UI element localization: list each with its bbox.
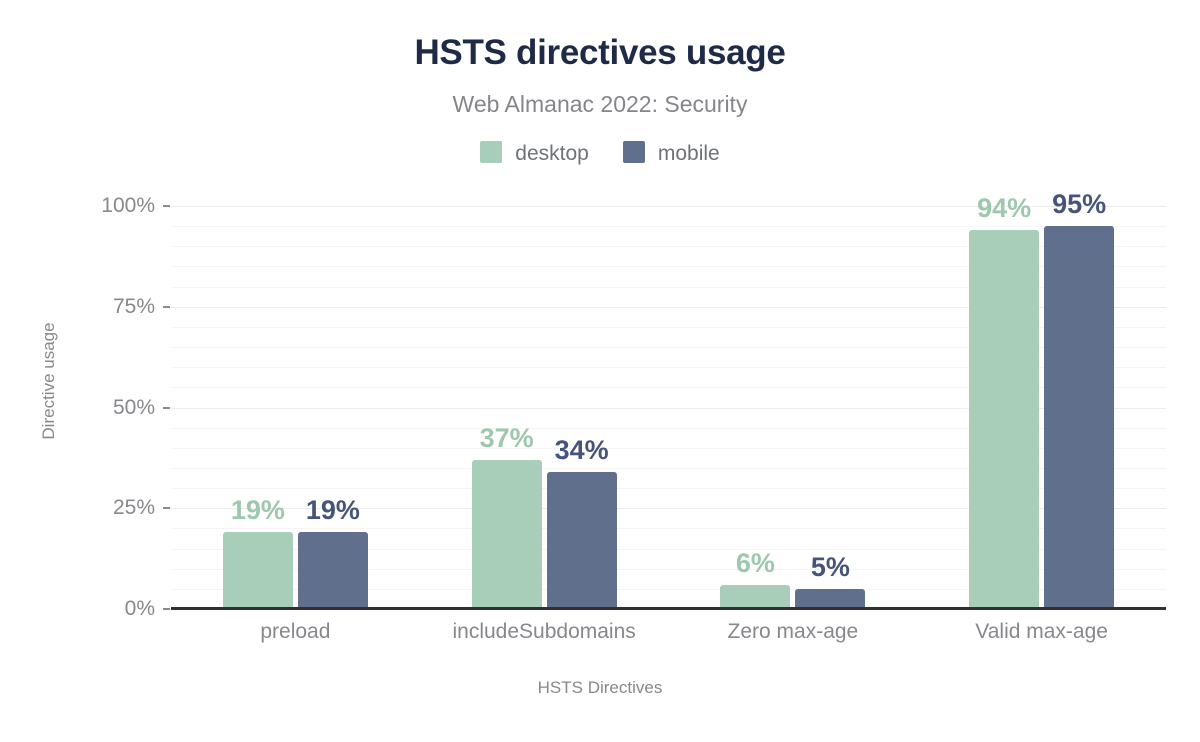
bar-value-label-mobile-preload: 19% <box>306 495 360 526</box>
bar-value-label-desktop-preload: 19% <box>231 495 285 526</box>
chart-subtitle: Web Almanac 2022: Security <box>0 91 1200 118</box>
plot-area: 19%19%37%34%6%5%94%95% <box>171 206 1166 609</box>
y-axis-tick-mark <box>163 608 170 610</box>
bar-value-label-mobile-zero-max-age: 5% <box>811 552 850 583</box>
bar-value-label-mobile-includesubdomains: 34% <box>555 435 609 466</box>
bar-mobile-zero-max-age[interactable] <box>795 589 865 609</box>
x-axis-title: HSTS Directives <box>0 678 1200 698</box>
legend-label-desktop: desktop <box>515 143 589 164</box>
y-axis-tick-label: 25% <box>85 496 155 520</box>
bar-desktop-valid-max-age[interactable] <box>969 230 1039 609</box>
x-axis-tick-label: preload <box>260 620 330 644</box>
legend-label-mobile: mobile <box>658 143 720 164</box>
bar-mobile-valid-max-age[interactable] <box>1044 226 1114 609</box>
bar-value-label-desktop-valid-max-age: 94% <box>977 193 1031 224</box>
y-axis-tick-label: 100% <box>85 194 155 218</box>
bar-value-label-desktop-includesubdomains: 37% <box>480 423 534 454</box>
bar-mobile-includesubdomains[interactable] <box>547 472 617 609</box>
legend-swatch-desktop <box>480 141 502 163</box>
y-axis-ticks: 0%25%50%75%100% <box>85 206 155 609</box>
y-axis-tick-label: 50% <box>85 396 155 420</box>
y-axis-tick-mark <box>163 306 170 308</box>
bar-desktop-preload[interactable] <box>223 532 293 609</box>
y-axis-tick-mark <box>163 205 170 207</box>
x-axis-line <box>171 607 1166 610</box>
x-axis-tick-label: Valid max-age <box>975 620 1108 644</box>
y-axis-tick-label: 0% <box>85 597 155 621</box>
y-axis-tick-mark <box>163 507 170 509</box>
x-axis-tick-label: includeSubdomains <box>452 620 635 644</box>
legend-swatch-mobile <box>623 141 645 163</box>
y-axis-title: Directive usage <box>39 311 59 451</box>
legend-item-mobile[interactable]: mobile <box>623 141 720 163</box>
x-axis-tick-label: Zero max-age <box>728 620 859 644</box>
legend-item-desktop[interactable]: desktop <box>480 141 589 163</box>
gridline-minor <box>171 226 1166 227</box>
bar-desktop-zero-max-age[interactable] <box>720 585 790 609</box>
y-axis-tick-label: 75% <box>85 295 155 319</box>
bar-mobile-preload[interactable] <box>298 532 368 609</box>
chart-title: HSTS directives usage <box>0 33 1200 73</box>
chart-container: HSTS directives usage Web Almanac 2022: … <box>0 0 1200 742</box>
chart-legend: desktop mobile <box>0 141 1200 163</box>
y-axis-tick-mark <box>163 407 170 409</box>
bar-value-label-desktop-zero-max-age: 6% <box>736 548 775 579</box>
bar-desktop-includesubdomains[interactable] <box>472 460 542 609</box>
bar-value-label-mobile-valid-max-age: 95% <box>1052 189 1106 220</box>
